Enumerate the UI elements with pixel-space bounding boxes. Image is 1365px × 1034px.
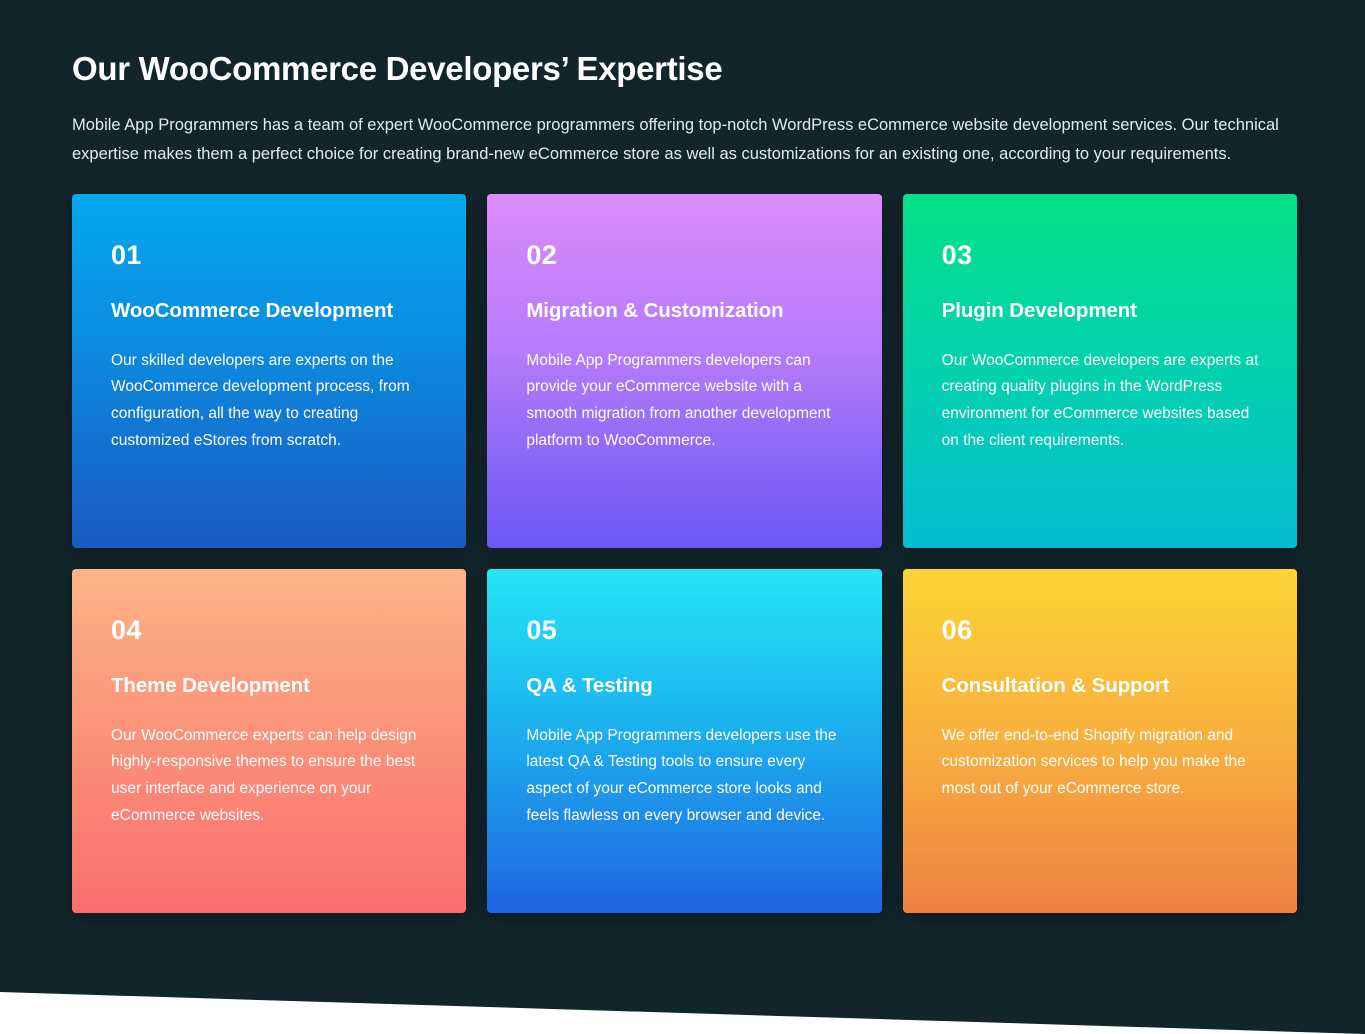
card-description: Our WooCommerce experts can help design …	[111, 723, 429, 830]
expertise-card-05[interactable]: 05 QA & Testing Mobile App Programmers d…	[487, 569, 881, 913]
expertise-card-02[interactable]: 02 Migration & Customization Mobile App …	[487, 194, 881, 548]
card-description: We offer end-to-end Shopify migration an…	[942, 723, 1260, 803]
card-number: 04	[111, 617, 429, 644]
section-bottom-diagonal-divider	[0, 954, 1365, 1034]
card-number: 03	[942, 242, 1260, 269]
card-title: Migration & Customization	[526, 296, 844, 326]
card-title: WooCommerce Development	[111, 296, 429, 326]
card-title: Theme Development	[111, 671, 429, 701]
card-title: Consultation & Support	[942, 671, 1260, 701]
card-title: QA & Testing	[526, 671, 844, 701]
card-number: 02	[526, 242, 844, 269]
expertise-card-03[interactable]: 03 Plugin Development Our WooCommerce de…	[903, 194, 1297, 548]
card-description: Our skilled developers are experts on th…	[111, 348, 429, 455]
card-description: Our WooCommerce developers are experts a…	[942, 348, 1260, 455]
page-title: Our WooCommerce Developers’ Expertise	[72, 48, 1293, 89]
expertise-card-06[interactable]: 06 Consultation & Support We offer end-t…	[903, 569, 1297, 913]
card-description: Mobile App Programmers developers can pr…	[526, 348, 844, 455]
card-number: 06	[942, 617, 1260, 644]
expertise-section: Our WooCommerce Developers’ Expertise Mo…	[0, 0, 1365, 1034]
expertise-cards-grid: 01 WooCommerce Development Our skilled d…	[72, 194, 1297, 913]
card-number: 01	[111, 242, 429, 269]
section-intro-paragraph: Mobile App Programmers has a team of exp…	[72, 111, 1293, 168]
card-description: Mobile App Programmers developers use th…	[526, 723, 844, 830]
card-number: 05	[526, 617, 844, 644]
card-title: Plugin Development	[942, 296, 1260, 326]
expertise-card-04[interactable]: 04 Theme Development Our WooCommerce exp…	[72, 569, 466, 913]
expertise-card-01[interactable]: 01 WooCommerce Development Our skilled d…	[72, 194, 466, 548]
